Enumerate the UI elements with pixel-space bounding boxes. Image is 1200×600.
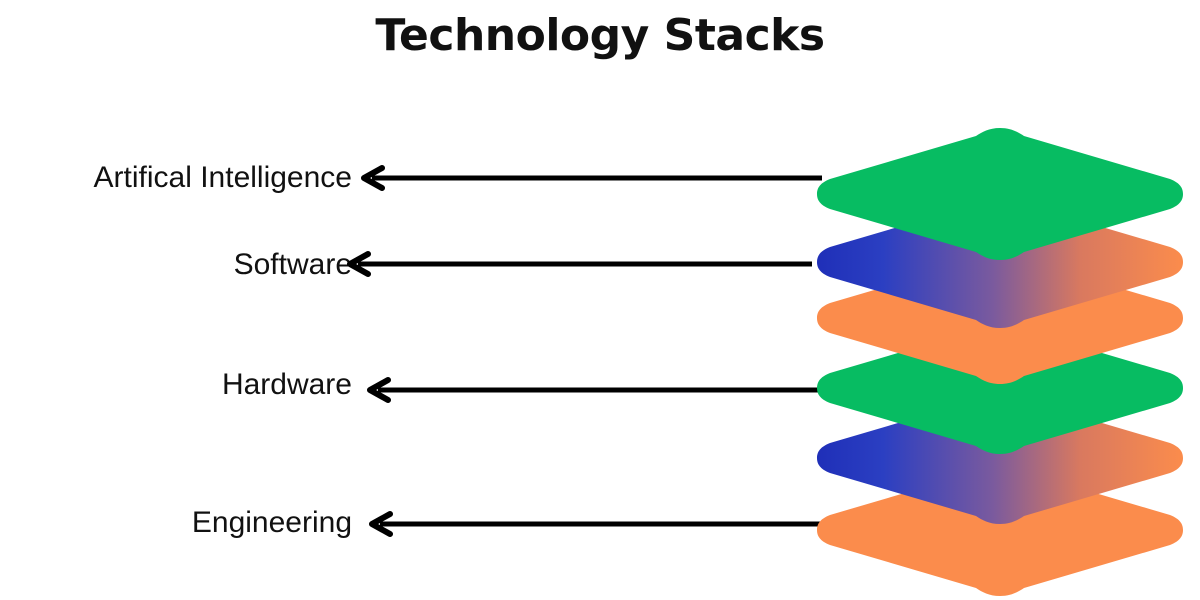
- arrow-to-software: [346, 252, 820, 282]
- label-artifical-intelligence: Artifical Intelligence: [0, 163, 352, 193]
- page-title: Technology Stacks: [0, 12, 1200, 60]
- technology-stacks-diagram: Technology Stacks Artifical Intelligence…: [0, 0, 1200, 600]
- layer-stack: [806, 126, 1200, 600]
- arrow-to-hardware: [366, 378, 836, 408]
- label-hardware: Hardware: [0, 370, 352, 400]
- arrow-to-artifical-intelligence: [360, 166, 830, 196]
- label-engineering: Engineering: [0, 508, 352, 538]
- label-software: Software: [0, 250, 352, 280]
- arrow-to-engineering: [368, 512, 830, 542]
